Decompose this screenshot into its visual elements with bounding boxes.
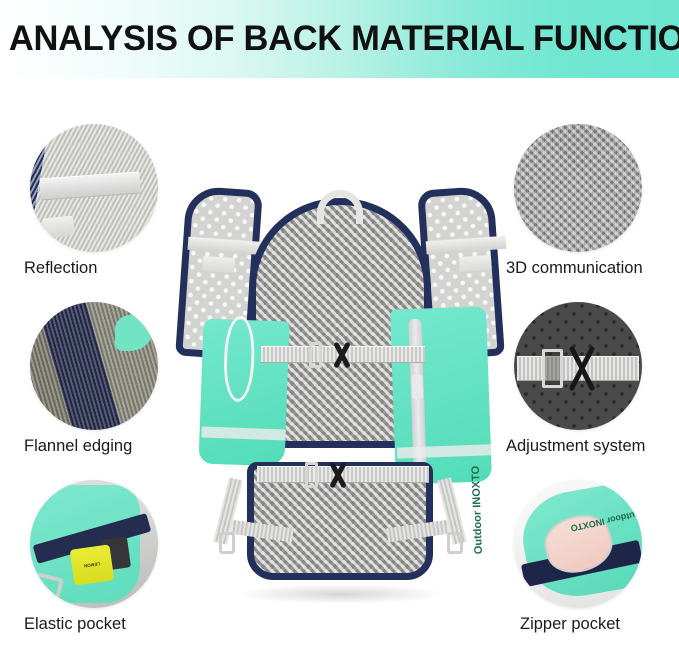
upper-x-buckle [325, 341, 359, 369]
zipper-pull [411, 375, 423, 399]
reflection-detail-image [30, 124, 158, 252]
shoulder-tab-left [202, 256, 235, 273]
pocket-reflective-strip-left [201, 427, 286, 441]
lower-ladder-lock [305, 462, 318, 488]
shoulder-tab-right [459, 255, 492, 272]
vest-brand-text: Outdoor INOXTO [469, 466, 484, 555]
elastic-pocket-detail-image: LEMON [30, 480, 158, 608]
product-image-vest: Outdoor INOXTO [175, 180, 505, 610]
feature-label-3d-communication: 3D communication [506, 259, 679, 277]
feature-3d-communication: 3D communication [496, 124, 679, 277]
side-clip-right [447, 532, 463, 554]
feature-label-zipper-pocket: Zipper pocket [520, 615, 679, 633]
shoulder-reflective-strip-right [426, 236, 507, 255]
page-title: ANALYSIS OF BACK MATERIAL FUNCTION [0, 19, 679, 59]
right-zipper-pocket: Outdoor INOXTO [390, 306, 492, 484]
pocket-reflective-strip-right [397, 444, 491, 458]
left-mint-pocket [198, 319, 289, 467]
product-drop-shadow [235, 584, 447, 604]
feature-label-elastic-pocket: Elastic pocket [24, 615, 208, 633]
stowed-yellow-item: LEMON [70, 544, 114, 585]
x-buckle-icon [565, 344, 598, 393]
stowed-item-label: LEMON [84, 561, 101, 569]
header-banner: ANALYSIS OF BACK MATERIAL FUNCTION [0, 0, 679, 78]
feature-label-adjustment-system: Adjustment system [506, 437, 678, 455]
side-clip-left [219, 532, 235, 554]
infographic-page: ANALYSIS OF BACK MATERIAL FUNCTION Refle… [0, 0, 679, 645]
lower-x-buckle [321, 461, 355, 489]
3d-communication-detail-image [514, 124, 642, 252]
3d-mesh-art [514, 124, 642, 252]
adjustment-system-detail-image [514, 302, 642, 430]
hanging-loop [317, 190, 363, 224]
flannel-edging-detail-image [30, 302, 158, 430]
feature-zipper-pocket: Outdoor INOXTO Zipper pocket [482, 480, 679, 633]
ladder-lock [542, 349, 562, 387]
bottle-cord [223, 315, 256, 402]
upper-ladder-lock [309, 342, 322, 368]
feature-adjustment-system: Adjustment system [478, 302, 678, 455]
zipper-pocket-detail-image: Outdoor INOXTO [514, 480, 642, 608]
